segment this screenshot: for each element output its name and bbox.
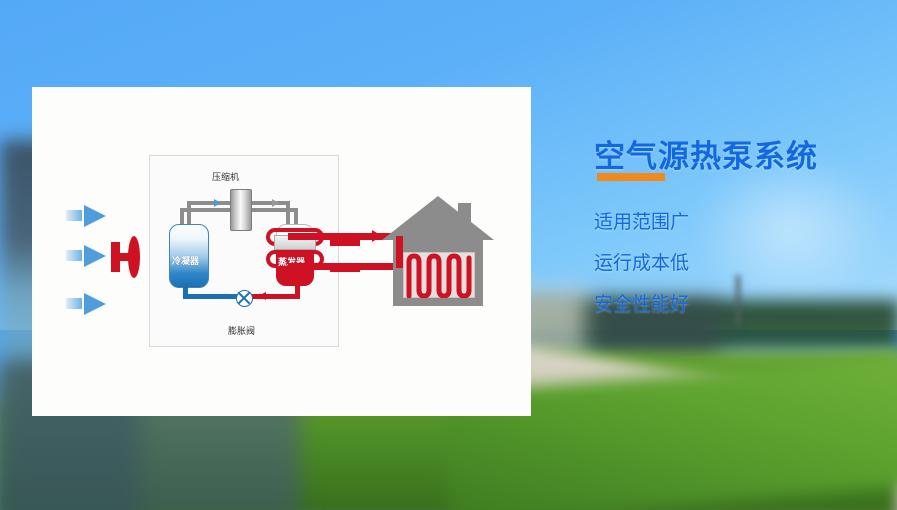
hot-flow-arrow-icon xyxy=(258,292,266,300)
page-title: 空气源热泵系统 xyxy=(594,131,818,176)
compressor-label: 压缩机 xyxy=(212,170,239,183)
utility-pole xyxy=(735,275,741,325)
roof-shape xyxy=(382,196,494,240)
air-arrow-3 xyxy=(84,293,106,315)
house-inlet-pipe xyxy=(396,236,403,268)
feature-item-2: 运行成本低 xyxy=(594,248,689,275)
air-arrow-tail-2 xyxy=(66,250,82,261)
condenser-label: 冷凝器 xyxy=(172,254,199,267)
vapor-pipe-from-compressor-2 xyxy=(250,208,298,212)
evaporator-intake-1 xyxy=(330,240,360,246)
fan-icon-blade xyxy=(128,236,140,278)
air-arrow-2 xyxy=(84,245,106,267)
hot-pipe-riser xyxy=(295,274,300,299)
air-arrow-1 xyxy=(84,205,106,227)
supply-flow-arrow-icon xyxy=(372,230,382,242)
flow-arrow-icon-2 xyxy=(272,199,279,207)
air-arrow-tail-3 xyxy=(66,298,82,309)
liquid-pipe-run xyxy=(183,294,239,299)
vapor-pipe-to-compressor-2 xyxy=(206,208,232,212)
air-arrow-tail-1 xyxy=(66,210,82,221)
return-flow-arrow-icon xyxy=(300,261,310,273)
evaporator-intake-2 xyxy=(330,266,360,272)
compressor-unit xyxy=(230,189,252,231)
expansion-valve xyxy=(236,290,253,307)
heat-pump-cycle-diagram: 压缩机 冷凝器 蒸发器 膨胀阀 xyxy=(149,155,339,347)
flow-arrow-icon xyxy=(214,199,221,207)
feature-item-1: 适用范围广 xyxy=(594,207,689,234)
underfloor-heating-coil-icon xyxy=(403,252,475,298)
feature-item-3: 安全性能好 xyxy=(594,289,689,316)
title-underline-rule xyxy=(597,173,665,181)
chimney-shape xyxy=(458,203,471,236)
vapor-pipe-from-compressor xyxy=(250,201,290,205)
expansion-valve-label: 膨胀阀 xyxy=(228,324,255,337)
